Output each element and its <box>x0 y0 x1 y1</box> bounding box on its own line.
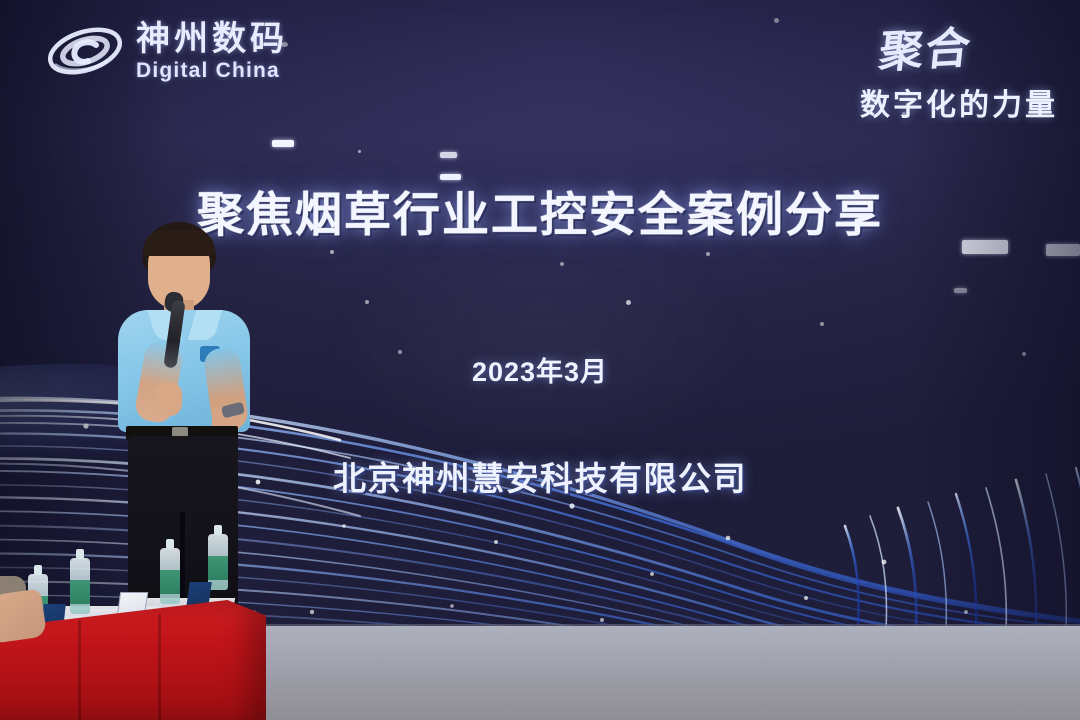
bottle-label <box>208 556 228 580</box>
event-theme-logo: 聚合 数字化的力量 <box>860 14 1058 124</box>
bottle-label <box>160 570 180 594</box>
bottle-label <box>70 580 90 604</box>
light-particle <box>365 300 369 304</box>
presenter-fringe <box>143 230 215 256</box>
light-particle <box>626 300 631 305</box>
light-particle <box>706 252 710 256</box>
spiral-galaxy-icon <box>44 18 126 84</box>
light-particle <box>774 18 779 23</box>
light-particle-dash <box>272 140 294 147</box>
light-particle-dash <box>954 288 967 293</box>
light-particle-dash <box>440 152 457 158</box>
brand-name-cn: 神州数码 <box>136 22 288 56</box>
light-particle <box>560 262 564 266</box>
theme-brush-text: 聚合 <box>876 12 975 81</box>
light-particle-dash <box>1046 244 1080 256</box>
light-particle <box>820 322 824 326</box>
conference-stage-photo: 神州数码 Digital China 聚合 数字化的力量 聚焦烟草行业工控安全案… <box>0 0 1080 720</box>
brand-name-en: Digital China <box>136 60 288 81</box>
table-cloth-fold <box>78 620 81 720</box>
table-cloth-fold <box>158 614 161 720</box>
head-table <box>0 556 282 720</box>
screen-texture-smudge <box>330 230 750 460</box>
presenter-left-hand <box>154 382 182 416</box>
water-bottle <box>70 558 90 614</box>
digital-china-logo: 神州数码 Digital China <box>44 18 288 84</box>
light-particle <box>330 250 334 254</box>
digital-china-wordmark: 神州数码 Digital China <box>136 22 288 81</box>
water-bottle <box>160 548 180 604</box>
theme-subtitle: 数字化的力量 <box>860 80 1058 124</box>
light-particle <box>358 150 361 153</box>
